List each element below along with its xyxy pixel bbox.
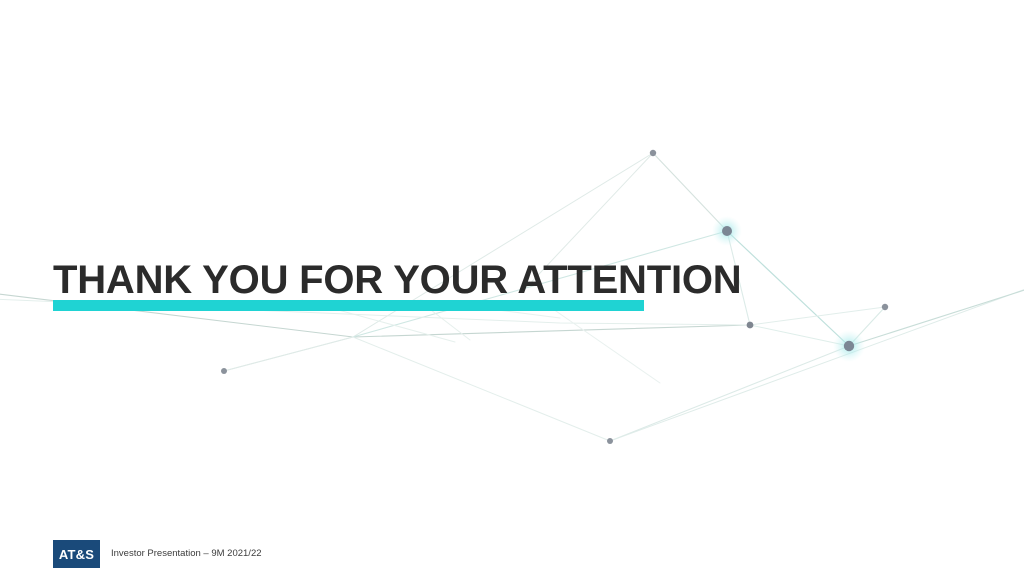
slide-canvas: THANK YOU FOR YOUR ATTENTION AT&S Invest… xyxy=(0,0,1024,576)
network-node xyxy=(221,368,227,374)
title-block: THANK YOU FOR YOUR ATTENTION xyxy=(53,258,753,302)
network-node-highlighted xyxy=(844,341,854,351)
ats-logo: AT&S xyxy=(53,540,100,568)
network-node xyxy=(747,322,754,329)
network-node xyxy=(650,150,656,156)
title-accent-underline xyxy=(53,300,644,311)
network-node-highlighted xyxy=(722,226,732,236)
ats-logo-text: AT&S xyxy=(59,548,94,561)
network-node xyxy=(882,304,888,310)
network-node xyxy=(607,438,613,444)
page-title: THANK YOU FOR YOUR ATTENTION xyxy=(53,258,753,302)
footer-caption: Investor Presentation – 9M 2021/22 xyxy=(111,549,262,559)
slide-footer: AT&S Investor Presentation – 9M 2021/22 xyxy=(53,540,262,568)
